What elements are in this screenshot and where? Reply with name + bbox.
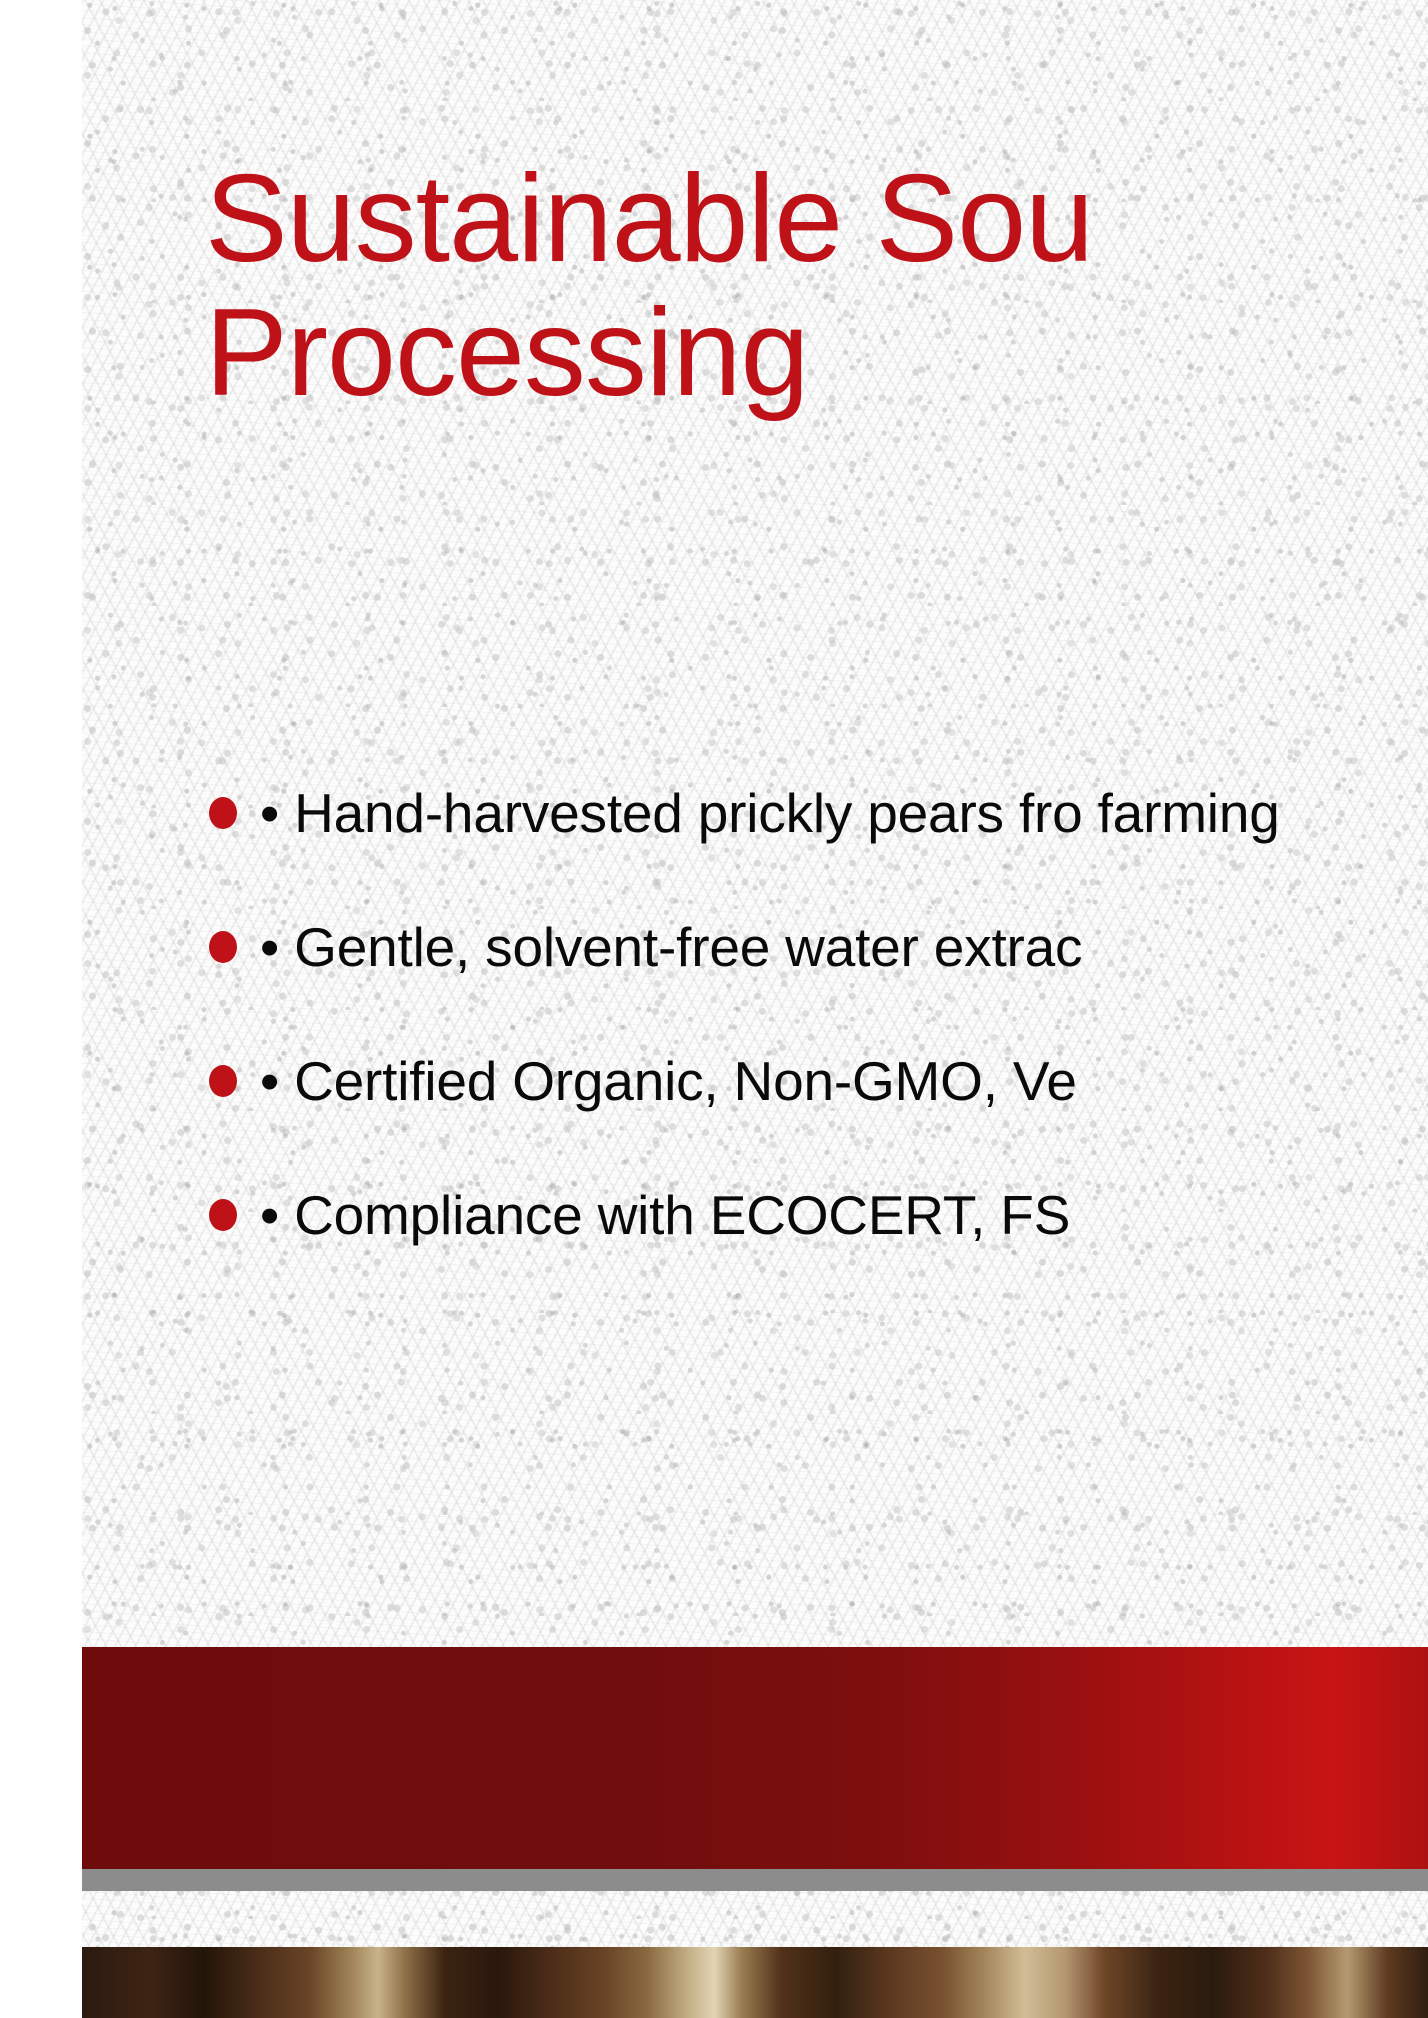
slide-canvas: Sustainable Sou Processing • Hand-harves… — [0, 0, 1428, 2018]
footer-red-band — [82, 1647, 1428, 1869]
list-item: • Certified Organic, Non-GMO, Ve — [205, 1040, 1428, 1122]
footer-gray-divider — [82, 1869, 1428, 1891]
bullet-dot-icon — [209, 797, 237, 829]
title-line-2: Processing — [205, 286, 1428, 420]
list-item: • Compliance with ECOCERT, FS — [205, 1174, 1428, 1256]
list-item-text: • Gentle, solvent-free water extrac — [260, 906, 1428, 988]
bullet-list: • Hand-harvested prickly pears fro farmi… — [205, 772, 1428, 1308]
slide-title: Sustainable Sou Processing — [205, 152, 1428, 420]
list-item-text: • Hand-harvested prickly pears fro farmi… — [260, 772, 1428, 854]
list-item: • Gentle, solvent-free water extrac — [205, 906, 1428, 988]
bottom-wood-photo-strip — [82, 1947, 1428, 2018]
bullet-dot-icon — [209, 1065, 237, 1097]
list-item-text: • Certified Organic, Non-GMO, Ve — [260, 1040, 1428, 1122]
list-item-text: • Compliance with ECOCERT, FS — [260, 1174, 1428, 1256]
bullet-dot-icon — [209, 1199, 237, 1231]
bullet-dot-icon — [209, 931, 237, 963]
left-margin-strip — [0, 0, 82, 2018]
list-item: • Hand-harvested prickly pears fro farmi… — [205, 772, 1428, 854]
title-line-1: Sustainable Sou — [205, 152, 1428, 286]
